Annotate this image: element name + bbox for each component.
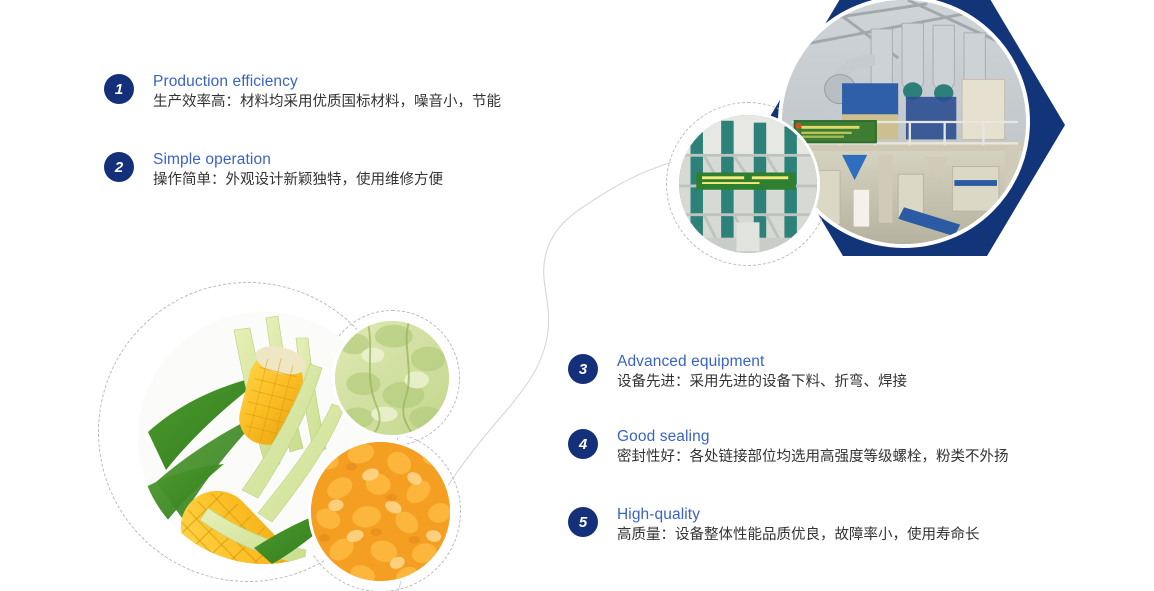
feature-item-2[interactable]: 2 Simple operation 操作简单：外观设计新颖独特，使用维修方便 [104,150,443,191]
feature-badge-5: 5 [568,507,598,537]
feature-text-2: Simple operation 操作简单：外观设计新颖独特，使用维修方便 [153,150,443,191]
feature-title-1: Production efficiency [153,72,501,91]
feature-desc-4: 密封性好：各处链接部位均选用高强度等级螺栓，粉类不外扬 [617,447,1009,468]
flour-mill-photo [778,0,1030,248]
feature-text-1: Production efficiency 生产效率高：材料均采用优质国标材料，… [153,72,501,113]
feature-desc-1: 生产效率高：材料均采用优质国标材料，噪音小，节能 [153,92,501,113]
feature-title-2: Simple operation [153,150,443,169]
green-mill-photo [676,112,820,256]
feature-title-3: Advanced equipment [617,352,907,371]
page-root: 1 Production efficiency 生产效率高：材料均采用优质国标材… [0,0,1154,591]
feature-text-3: Advanced equipment 设备先进：采用先进的设备下料、折弯、焊接 [617,352,907,393]
feature-badge-1: 1 [104,74,134,104]
feature-item-1[interactable]: 1 Production efficiency 生产效率高：材料均采用优质国标材… [104,72,501,113]
feature-text-5: High-quality 高质量：设备整体性能品质优良，故障率小，使用寿命长 [617,505,980,546]
feature-text-4: Good sealing 密封性好：各处链接部位均选用高强度等级螺栓，粉类不外扬 [617,427,1009,468]
feature-item-5[interactable]: 5 High-quality 高质量：设备整体性能品质优良，故障率小，使用寿命长 [568,505,980,546]
feature-title-5: High-quality [617,505,980,524]
feature-item-3[interactable]: 3 Advanced equipment 设备先进：采用先进的设备下料、折弯、焊… [568,352,907,393]
feature-badge-2: 2 [104,152,134,182]
feature-title-4: Good sealing [617,427,1009,446]
corn-media-group [92,282,492,591]
feature-badge-3: 3 [568,354,598,384]
corn-grits-photo [308,439,453,584]
corn-paste-photo [332,318,452,438]
feature-item-4[interactable]: 4 Good sealing 密封性好：各处链接部位均选用高强度等级螺栓，粉类不… [568,427,1009,468]
feature-desc-2: 操作简单：外观设计新颖独特，使用维修方便 [153,170,443,191]
feature-badge-4: 4 [568,429,598,459]
machinery-media-group [660,0,1080,262]
feature-desc-3: 设备先进：采用先进的设备下料、折弯、焊接 [617,372,907,393]
feature-desc-5: 高质量：设备整体性能品质优良，故障率小，使用寿命长 [617,525,980,546]
